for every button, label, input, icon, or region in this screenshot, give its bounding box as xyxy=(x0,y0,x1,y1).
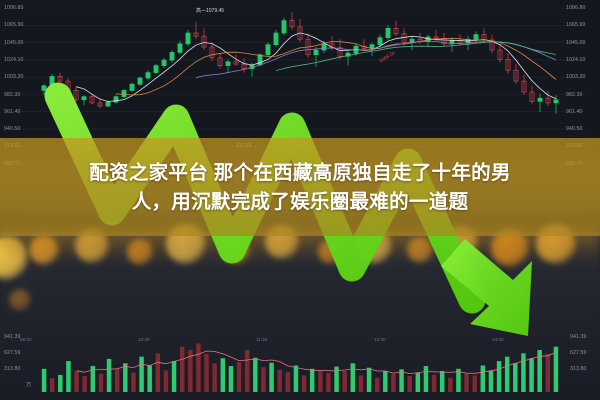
title-line-2: 人，用沉默完成了娱乐圈最难的一道题 xyxy=(132,191,469,214)
title-line-1: 配资之家平台 那个在西藏高原独自走了十年的男 xyxy=(89,162,511,185)
article-title: 配资之家平台 那个在西藏高原独自走了十年的男 人，用沉默完成了娱乐圈最难的一道题 xyxy=(0,142,600,234)
banner-stage: 1086.801065.901045.001024.101003.20982.3… xyxy=(0,0,600,400)
